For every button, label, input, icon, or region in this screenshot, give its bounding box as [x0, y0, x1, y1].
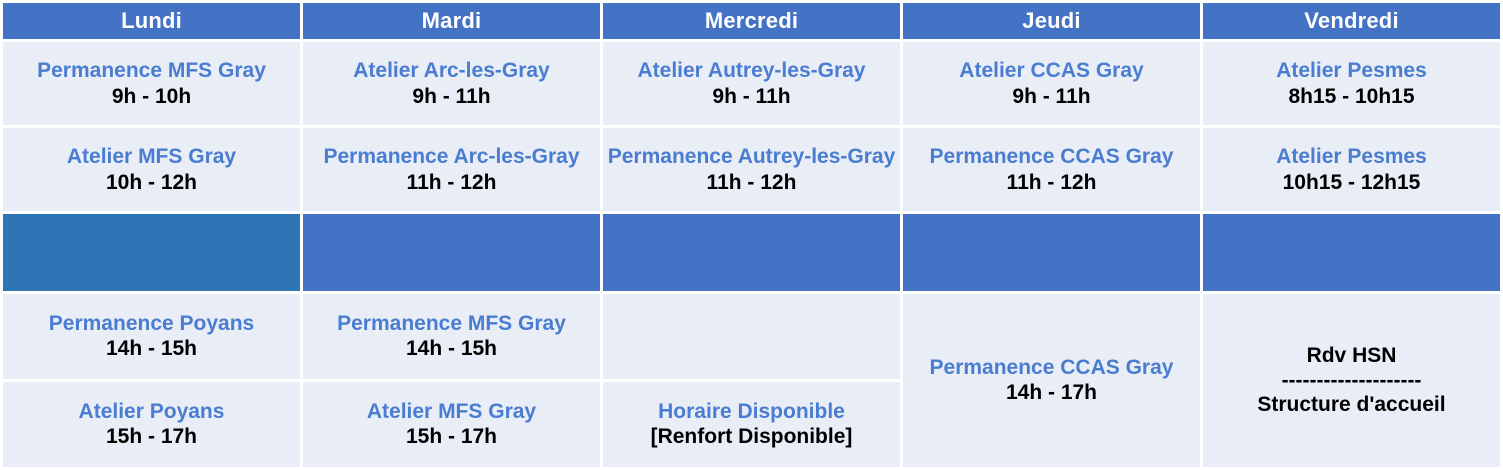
slot-jeudi-morning-2[interactable]: Permanence CCAS Gray 11h - 12h: [903, 128, 1200, 211]
slot-time: 8h15 - 10h15: [1207, 84, 1496, 110]
slot-time: 15h - 17h: [7, 424, 296, 450]
slot-time: 10h15 - 12h15: [1207, 170, 1496, 196]
divider-cell-mercredi: [603, 214, 900, 290]
schedule-row-morning-1: Permanence MFS Gray 9h - 10h Atelier Arc…: [3, 42, 1500, 125]
slot-time: 11h - 12h: [907, 170, 1196, 196]
day-header-jeudi[interactable]: Jeudi: [903, 3, 1200, 39]
slot-time: 9h - 11h: [307, 84, 596, 110]
slot-mercredi-afternoon-2[interactable]: Horaire Disponible [Renfort Disponible]: [603, 382, 900, 467]
slot-title: Permanence Autrey-les-Gray: [607, 144, 896, 170]
slot-vendredi-morning-1[interactable]: Atelier Pesmes 8h15 - 10h15: [1203, 42, 1500, 125]
slot-time: 14h - 17h: [907, 380, 1196, 406]
schedule-row-morning-2: Atelier MFS Gray 10h - 12h Permanence Ar…: [3, 128, 1500, 211]
day-header-vendredi[interactable]: Vendredi: [1203, 3, 1500, 39]
slot-time: 15h - 17h: [307, 424, 596, 450]
day-header-mardi[interactable]: Mardi: [303, 3, 600, 39]
slot-lundi-morning-1[interactable]: Permanence MFS Gray 9h - 10h: [3, 42, 300, 125]
slot-title: Atelier Autrey-les-Gray: [607, 58, 896, 84]
slot-title: Atelier Arc-les-Gray: [307, 58, 596, 84]
slot-title: Atelier CCAS Gray: [907, 58, 1196, 84]
divider-cell-lundi: [3, 214, 300, 290]
divider-cell-mardi: [303, 214, 600, 290]
slot-dashed-divider: --------------------: [1207, 369, 1496, 392]
slot-title: Permanence CCAS Gray: [907, 144, 1196, 170]
slot-time: [Renfort Disponible]: [607, 424, 896, 450]
day-header-lundi[interactable]: Lundi: [3, 3, 300, 39]
schedule-row-divider: [3, 214, 1500, 290]
slot-time: 11h - 12h: [307, 170, 596, 196]
slot-title: Horaire Disponible: [607, 399, 896, 425]
slot-title: Permanence Arc-les-Gray: [307, 144, 596, 170]
slot-line-structure: Structure d'accueil: [1207, 392, 1496, 418]
slot-time: 14h - 15h: [307, 336, 596, 362]
slot-mardi-morning-2[interactable]: Permanence Arc-les-Gray 11h - 12h: [303, 128, 600, 211]
day-header-mercredi[interactable]: Mercredi: [603, 3, 900, 39]
slot-time: 9h - 11h: [607, 84, 896, 110]
slot-mercredi-morning-1[interactable]: Atelier Autrey-les-Gray 9h - 11h: [603, 42, 900, 125]
slot-title: Permanence MFS Gray: [307, 311, 596, 337]
slot-title: Permanence MFS Gray: [7, 58, 296, 84]
divider-cell-jeudi: [903, 214, 1200, 290]
slot-line-rdv: Rdv HSN: [1207, 343, 1496, 369]
slot-title: Atelier Poyans: [7, 399, 296, 425]
divider-cell-vendredi: [1203, 214, 1500, 290]
slot-title: Atelier Pesmes: [1207, 58, 1496, 84]
slot-vendredi-afternoon-merged[interactable]: Rdv HSN -------------------- Structure d…: [1203, 294, 1500, 467]
slot-title: Atelier MFS Gray: [7, 144, 296, 170]
slot-title: Atelier Pesmes: [1207, 144, 1496, 170]
slot-vendredi-morning-2[interactable]: Atelier Pesmes 10h15 - 12h15: [1203, 128, 1500, 211]
slot-title: Atelier MFS Gray: [307, 399, 596, 425]
slot-mercredi-afternoon-1-empty[interactable]: [603, 294, 900, 379]
slot-lundi-afternoon-1[interactable]: Permanence Poyans 14h - 15h: [3, 294, 300, 379]
slot-title: Permanence CCAS Gray: [907, 355, 1196, 381]
slot-time: 9h - 10h: [7, 84, 296, 110]
slot-lundi-afternoon-2[interactable]: Atelier Poyans 15h - 17h: [3, 382, 300, 467]
slot-mardi-afternoon-2[interactable]: Atelier MFS Gray 15h - 17h: [303, 382, 600, 467]
slot-time: 10h - 12h: [7, 170, 296, 196]
header-row: Lundi Mardi Mercredi Jeudi Vendredi: [3, 3, 1500, 39]
slot-time: 9h - 11h: [907, 84, 1196, 110]
slot-time: 14h - 15h: [7, 336, 296, 362]
slot-lundi-morning-2[interactable]: Atelier MFS Gray 10h - 12h: [3, 128, 300, 211]
slot-mardi-afternoon-1[interactable]: Permanence MFS Gray 14h - 15h: [303, 294, 600, 379]
weekly-schedule-table: Lundi Mardi Mercredi Jeudi Vendredi Perm…: [0, 0, 1503, 470]
slot-time: 11h - 12h: [607, 170, 896, 196]
slot-jeudi-afternoon-merged[interactable]: Permanence CCAS Gray 14h - 17h: [903, 294, 1200, 467]
schedule-row-afternoon-1: Permanence Poyans 14h - 15h Permanence M…: [3, 294, 1500, 379]
slot-mardi-morning-1[interactable]: Atelier Arc-les-Gray 9h - 11h: [303, 42, 600, 125]
slot-mercredi-morning-2[interactable]: Permanence Autrey-les-Gray 11h - 12h: [603, 128, 900, 211]
slot-jeudi-morning-1[interactable]: Atelier CCAS Gray 9h - 11h: [903, 42, 1200, 125]
slot-title: Permanence Poyans: [7, 311, 296, 337]
